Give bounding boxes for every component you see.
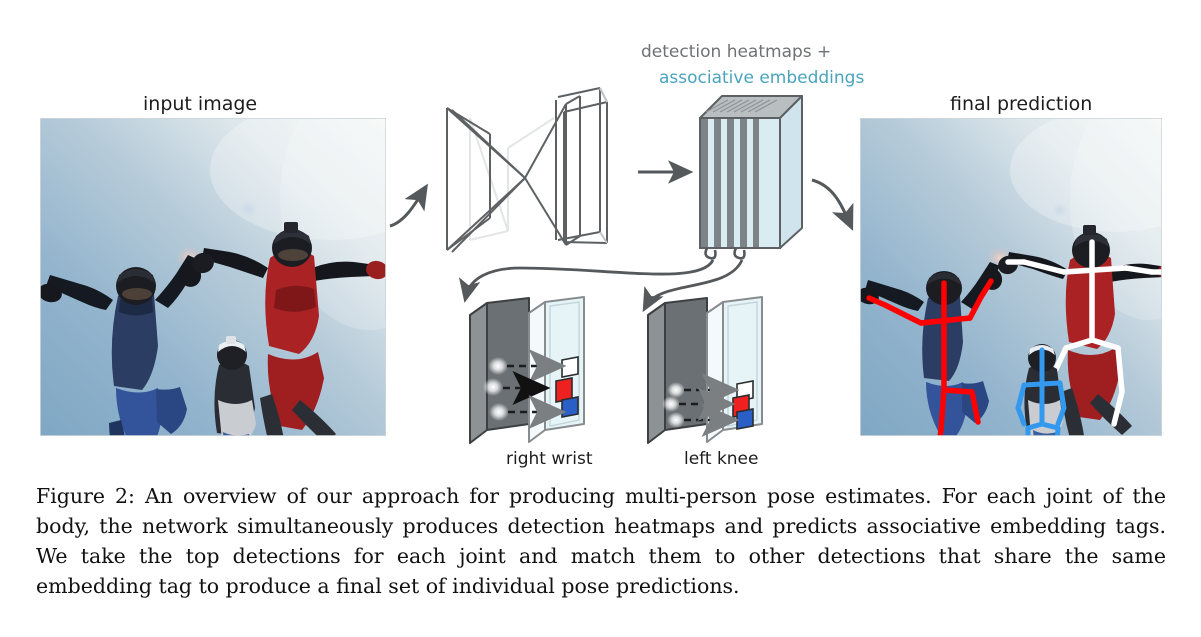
associative-embeddings-label: associative embeddings	[659, 68, 864, 88]
final-prediction-label: final prediction	[950, 93, 1092, 115]
figure-caption: Figure 2: An overview of our approach fo…	[36, 481, 1166, 601]
volume-tap-left	[706, 248, 716, 258]
arrow-volume-to-prediction	[812, 180, 850, 224]
arrow-input-to-network	[390, 190, 424, 226]
right-wrist-embedding-slab	[529, 297, 584, 442]
final-prediction-photo	[855, 80, 1201, 470]
tag-blue	[562, 397, 578, 417]
right-wrist-panel	[470, 297, 584, 443]
volume-tap-right	[735, 248, 745, 258]
left-knee-embedding-slab	[707, 297, 762, 442]
right-wrist-label: right wrist	[506, 449, 593, 469]
figure-container: input image final prediction detection h…	[0, 0, 1201, 637]
tag-blue	[737, 409, 753, 429]
input-image-label: input image	[143, 93, 257, 115]
detection-heatmaps-label: detection heatmaps +	[641, 42, 831, 62]
hourglass-network	[447, 88, 607, 252]
volume-slices	[700, 118, 780, 248]
tag-white	[562, 357, 578, 377]
right-wrist-detection-slab	[470, 298, 529, 443]
left-knee-label: left knee	[684, 449, 758, 469]
left-knee-panel	[648, 297, 762, 443]
output-volume	[700, 96, 802, 248]
input-image-photo	[36, 70, 460, 483]
